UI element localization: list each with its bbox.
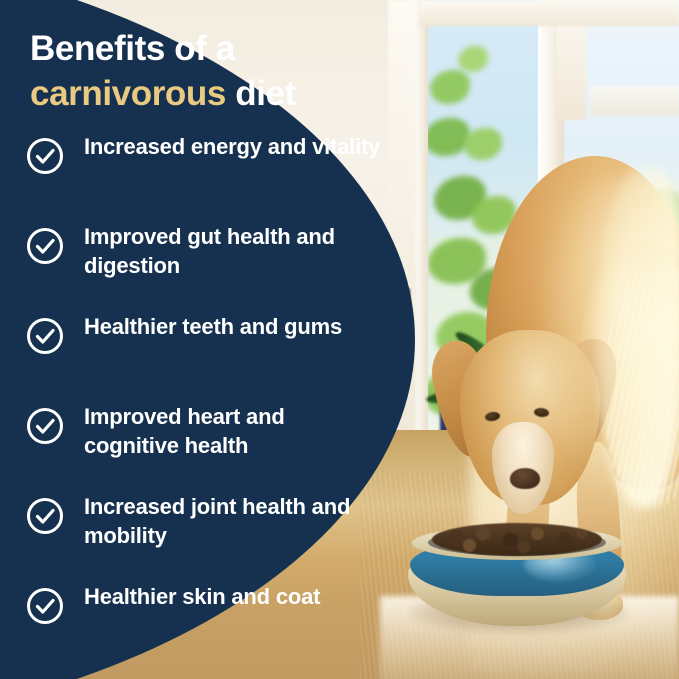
list-item-label: Increased energy and vitality xyxy=(84,132,384,161)
page-title: Benefits of a carnivorous diet xyxy=(30,26,370,116)
check-circle-icon xyxy=(26,227,64,265)
list-item-label: Healthier skin and coat xyxy=(84,582,384,611)
list-item: Improved heart and cognitive health xyxy=(26,403,386,493)
list-item: Increased energy and vitality xyxy=(26,133,386,223)
title-line-2-rest: diet xyxy=(226,74,296,113)
list-item: Improved gut health and digestion xyxy=(26,223,386,313)
list-item-label: Improved heart and cognitive health xyxy=(84,402,384,460)
check-circle-icon xyxy=(26,407,64,445)
list-item-label: Improved gut health and digestion xyxy=(84,222,384,280)
kibble-food xyxy=(432,523,602,556)
benefits-list: Increased energy and vitality Improved g… xyxy=(26,133,386,673)
panel-content: Benefits of a carnivorous diet Increased… xyxy=(0,0,400,679)
ceiling-trim xyxy=(420,0,679,26)
title-highlight: carnivorous xyxy=(30,74,226,113)
check-circle-icon xyxy=(26,587,64,625)
list-item-label: Healthier teeth and gums xyxy=(84,312,384,341)
sun-rimlight xyxy=(596,168,679,508)
dog-nose xyxy=(510,468,540,489)
window-frame xyxy=(590,86,679,116)
list-item: Healthier skin and coat xyxy=(26,583,386,673)
poster: Benefits of a carnivorous diet Increased… xyxy=(0,0,679,679)
list-item: Healthier teeth and gums xyxy=(26,313,386,403)
list-item-label: Increased joint health and mobility xyxy=(84,492,384,550)
check-circle-icon xyxy=(26,497,64,535)
check-circle-icon xyxy=(26,317,64,355)
title-line-1: Benefits of a xyxy=(30,29,235,68)
check-circle-icon xyxy=(26,137,64,175)
list-item: Increased joint health and mobility xyxy=(26,493,386,583)
dog-food-bowl xyxy=(406,518,628,634)
